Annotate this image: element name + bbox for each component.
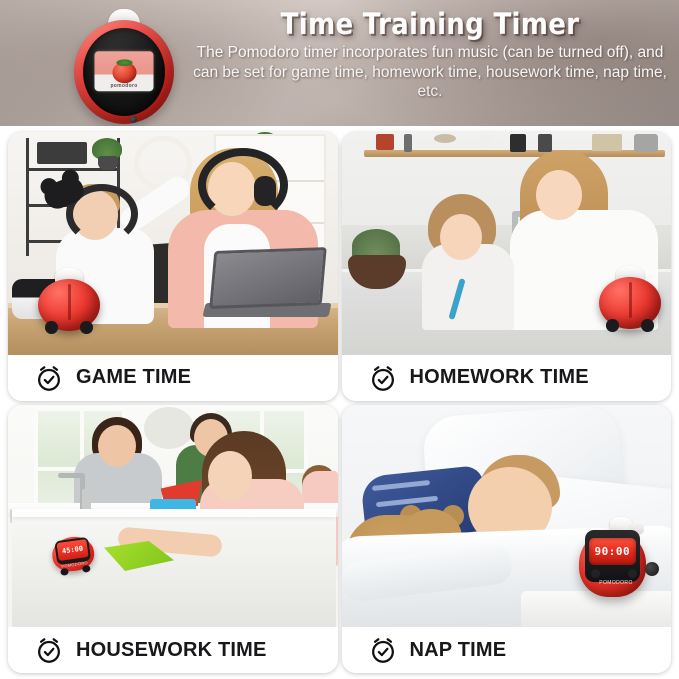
- panel-label-housework: HOUSEWORK TIME: [76, 639, 267, 662]
- header-text-block: Time Training Timer The Pomodoro timer i…: [186, 4, 674, 102]
- panel-photo-housework: 45:00 POMODORO: [8, 405, 338, 628]
- tomato-leaf-icon: [116, 59, 133, 66]
- panel-photo-game: [8, 132, 338, 355]
- product-screen-label: pomodoro: [95, 83, 154, 89]
- page-subtitle: The Pomodoro timer incorporates fun musi…: [186, 43, 674, 102]
- panel-card-nap[interactable]: 90:00 POMODORO NAP TIME: [342, 405, 672, 674]
- laptop: [209, 247, 327, 309]
- timer-brand-text: POMODORO: [599, 580, 632, 586]
- panel-label-game: GAME TIME: [76, 366, 191, 389]
- timer-screen-nap: 90:00: [589, 538, 636, 565]
- product-infographic: pomodoro Time Training Timer The Pomodor…: [0, 0, 679, 679]
- panel-photo-homework: [342, 132, 672, 355]
- panel-card-housework[interactable]: 45:00 POMODORO HOUSEWORK TIME: [8, 405, 338, 674]
- alarm-clock-check-icon: [368, 363, 398, 393]
- header-banner: pomodoro Time Training Timer The Pomodor…: [0, 0, 679, 126]
- panel-label-homework: HOMEWORK TIME: [410, 366, 589, 389]
- panel-label-bar-nap: NAP TIME: [342, 627, 672, 673]
- timer-device-nap: 90:00 POMODORO: [579, 521, 653, 599]
- timer-display-nap: 90:00: [594, 545, 630, 558]
- timer-device-rear: [38, 271, 100, 333]
- product-body: pomodoro: [74, 20, 174, 124]
- alarm-clock-check-icon: [34, 635, 64, 665]
- panel-photo-nap: 90:00 POMODORO: [342, 405, 672, 628]
- panel-grid: GAME TIME: [0, 126, 679, 679]
- product-face: pomodoro: [83, 28, 165, 116]
- panel-label-nap: NAP TIME: [410, 639, 507, 662]
- timer-device-housework: 45:00 POMODORO: [49, 530, 96, 575]
- timer-side-knob: [645, 562, 659, 576]
- alarm-clock-check-icon: [34, 363, 64, 393]
- timer-display-housework: 45:00: [62, 544, 84, 555]
- product-knob: [130, 116, 137, 123]
- alarm-clock-check-icon: [368, 635, 398, 665]
- timer-device-rear: [599, 269, 661, 331]
- panel-card-homework[interactable]: HOMEWORK TIME: [342, 132, 672, 401]
- panel-card-game[interactable]: GAME TIME: [8, 132, 338, 401]
- panel-label-bar-game: GAME TIME: [8, 355, 338, 401]
- panel-label-bar-homework: HOMEWORK TIME: [342, 355, 672, 401]
- hero-product-image: pomodoro: [58, 8, 186, 126]
- page-title: Time Training Timer: [210, 8, 649, 41]
- panel-label-bar-housework: HOUSEWORK TIME: [8, 627, 338, 673]
- product-screen: pomodoro: [95, 51, 154, 91]
